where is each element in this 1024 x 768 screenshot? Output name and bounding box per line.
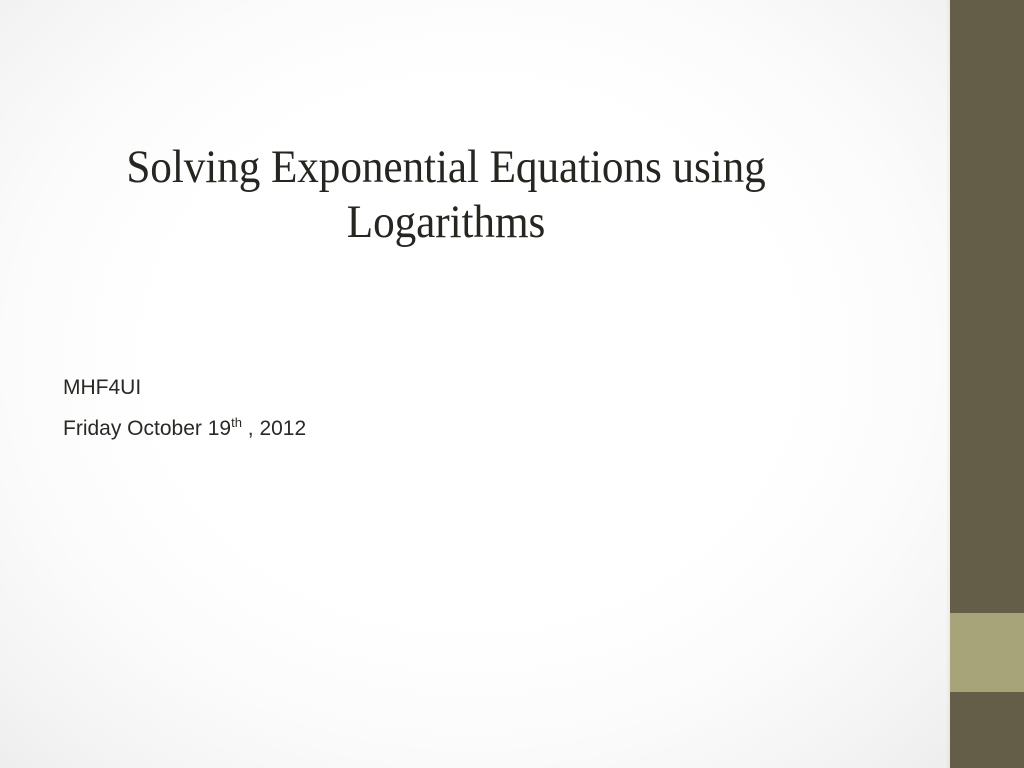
presentation-slide: Solving Exponential Equations using Loga… — [0, 0, 1024, 768]
slide-title: Solving Exponential Equations using Loga… — [96, 140, 796, 251]
slide-title-line-1: Solving Exponential Equations using — [124, 140, 768, 195]
sidebar-band-light-accent — [950, 613, 1024, 692]
decorative-sidebar — [950, 0, 1024, 768]
date-prefix: Friday October 19 — [63, 417, 231, 440]
course-code-text: MHF4UI — [63, 367, 663, 408]
sidebar-band-dark-bottom — [950, 692, 1024, 768]
date-text: Friday October 19th , 2012 — [63, 408, 663, 449]
date-year: , 2012 — [242, 417, 306, 440]
date-ordinal-suffix: th — [231, 415, 242, 430]
slide-body: MHF4UI Friday October 19th , 2012 — [63, 367, 663, 449]
sidebar-band-dark-top — [950, 0, 1024, 613]
slide-title-line-2: Logarithms — [124, 195, 768, 250]
